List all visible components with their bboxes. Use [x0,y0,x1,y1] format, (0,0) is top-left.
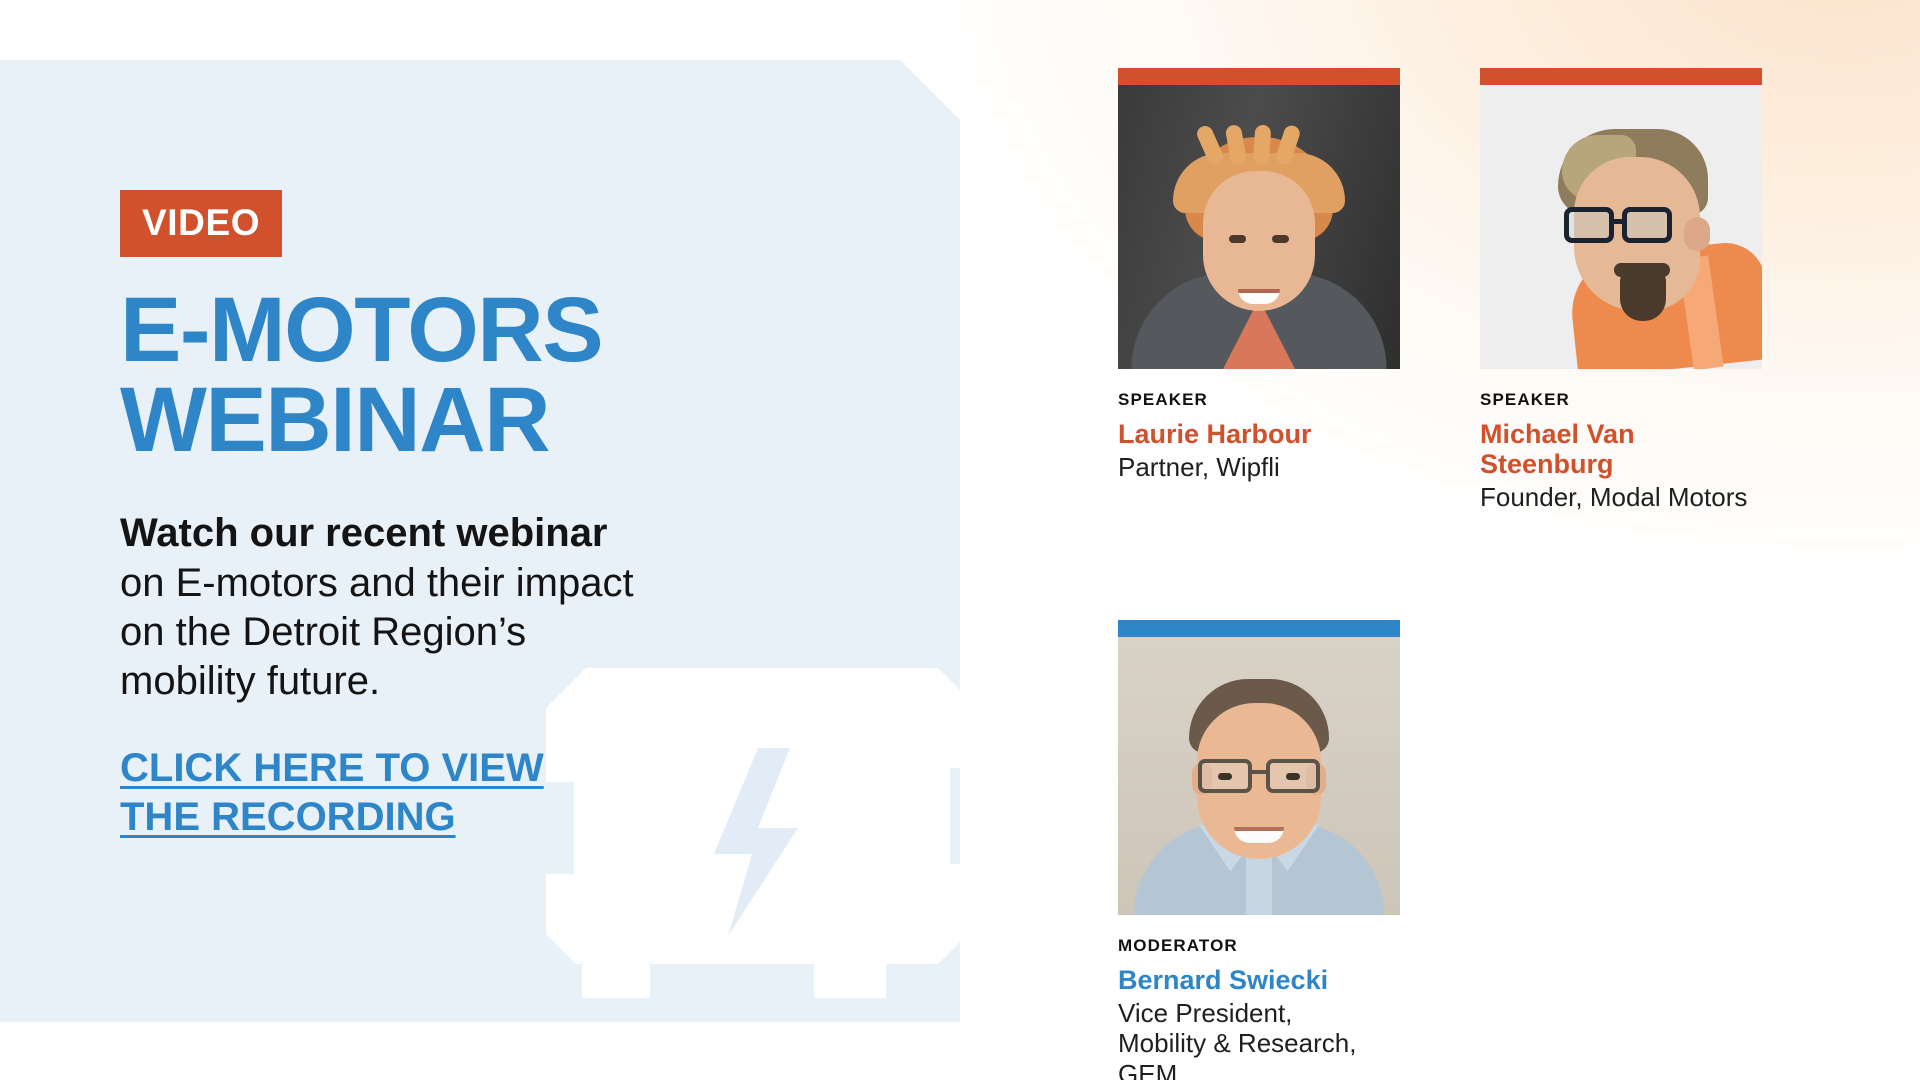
moderator-accent-bar [1118,620,1400,637]
description-line-2: on the Detroit Region’s [120,608,820,657]
speaker-accent-bar [1118,68,1400,85]
description-lead: Watch our recent webinar [120,509,820,558]
speaker-photo-laurie-harbour [1118,85,1400,369]
moderator-card-bernard-swiecki[interactable]: MODERATOR Bernard Swiecki Vice President… [1118,620,1400,1080]
view-recording-link[interactable]: CLICK HERE TO VIEW THE RECORDING [120,744,544,842]
moderator-row: MODERATOR Bernard Swiecki Vice President… [1118,620,1818,1080]
speaker-accent-bar [1480,68,1762,85]
moderator-role-label: MODERATOR [1118,937,1400,956]
cta-line-2: THE RECORDING [120,793,456,842]
video-badge: VIDEO [120,190,282,257]
description-line-1: on E-motors and their impact [120,559,820,608]
speaker-card-laurie-harbour[interactable]: SPEAKER Laurie Harbour Partner, Wipfli [1118,68,1400,512]
hero-description: Watch our recent webinar on E-motors and… [120,509,820,706]
speaker-card-michael-van-steenburg[interactable]: SPEAKER Michael Van Steenburg Founder, M… [1480,68,1762,512]
speaker-photo-michael-van-steenburg [1480,85,1762,369]
description-line-3: mobility future. [120,657,820,706]
speaker-name: Laurie Harbour [1118,419,1400,449]
speaker-role-label: SPEAKER [1480,391,1762,410]
page-title: E-MOTORS WEBINAR [120,285,820,465]
speaker-role-label: SPEAKER [1118,391,1400,410]
speaker-name: Michael Van Steenburg [1480,419,1762,479]
speaker-title: Partner, Wipfli [1118,452,1400,482]
speakers-row: SPEAKER Laurie Harbour Partner, Wipfli [1118,68,1818,512]
speaker-meta: SPEAKER Laurie Harbour Partner, Wipfli [1118,391,1400,482]
speaker-photo-frame [1480,68,1762,369]
speakers-grid: SPEAKER Laurie Harbour Partner, Wipfli [1118,68,1818,1080]
title-line-1: E-MOTORS [120,285,820,375]
speaker-meta: SPEAKER Michael Van Steenburg Founder, M… [1480,391,1762,512]
speaker-photo-frame [1118,68,1400,369]
moderator-title: Vice President, Mobility & Research, GEM [1118,998,1400,1080]
moderator-photo-frame [1118,620,1400,915]
cta-line-1: CLICK HERE TO VIEW [120,744,544,793]
moderator-photo-bernard-swiecki [1118,637,1400,915]
moderator-name: Bernard Swiecki [1118,965,1400,995]
title-line-2: WEBINAR [120,375,820,465]
hero-content: VIDEO E-MOTORS WEBINAR Watch our recent … [120,190,820,842]
speaker-title: Founder, Modal Motors [1480,482,1762,512]
moderator-meta: MODERATOR Bernard Swiecki Vice President… [1118,937,1400,1080]
